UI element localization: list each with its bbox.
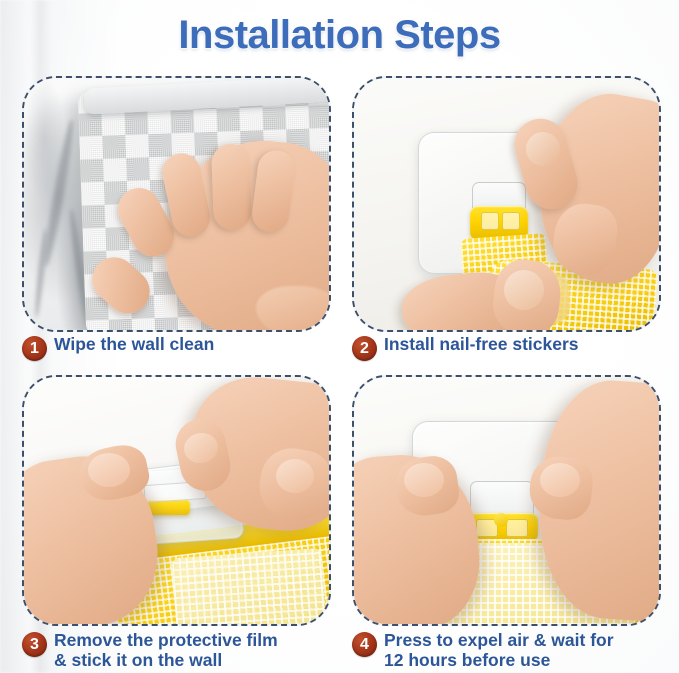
- page-title: Installation Steps: [0, 12, 679, 58]
- step-caption-text-3: Remove the protective film & stick it on…: [54, 630, 278, 670]
- step-panel-1: [22, 76, 331, 332]
- step-panel-4: [352, 375, 661, 626]
- step-caption-1: 1 Wipe the wall clean: [22, 334, 332, 361]
- step-2-image: [354, 78, 659, 330]
- step-caption-4: 4 Press to expel air & wait for 12 hours…: [352, 630, 672, 670]
- step-number-badge-2: 2: [352, 336, 377, 361]
- step-3-image: [24, 377, 329, 624]
- step-panel-2: [352, 76, 661, 332]
- step-number-badge-3: 3: [22, 632, 47, 657]
- step-caption-text-1: Wipe the wall clean: [54, 334, 214, 354]
- step-caption-2: 2 Install nail-free stickers: [352, 334, 662, 361]
- step-4-image: [354, 377, 659, 624]
- step-panel-3: [22, 375, 331, 626]
- step-number-badge-1: 1: [22, 336, 47, 361]
- step-1-image: [24, 78, 329, 330]
- step-caption-text-2: Install nail-free stickers: [384, 334, 579, 354]
- step-number-badge-4: 4: [352, 632, 377, 657]
- step-caption-3: 3 Remove the protective film & stick it …: [22, 630, 342, 670]
- step-caption-text-4: Press to expel air & wait for 12 hours b…: [384, 630, 614, 670]
